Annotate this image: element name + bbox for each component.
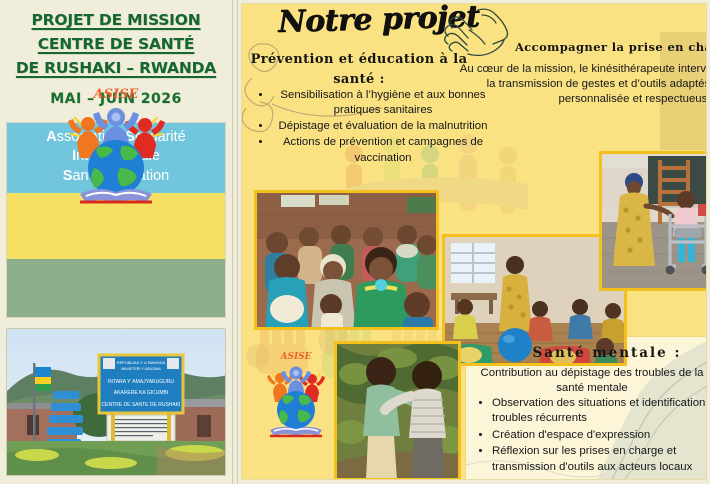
prevention-heading: Prévention et éducation à la santé : [248, 50, 470, 89]
poster: PROJET DE MISSION CENTRE DE SANTÉ DE RUS… [0, 0, 710, 484]
list-item: Réflexion sur les prises en charge et tr… [492, 444, 707, 474]
asise-logo-small: ASISE [260, 348, 332, 440]
assoc-line-1: Association Solidarité [46, 128, 185, 148]
list-item: Dépistage et évaluation de la malnutriti… [272, 119, 494, 134]
prevention-bullets: Sensibilisation à l’hygiène et aux bonne… [246, 88, 494, 167]
assoc-line-2: Internationale [72, 147, 160, 167]
svg-text:CENTRE DE SANTE DE RUSHAKI: CENTRE DE SANTE DE RUSHAKI [102, 402, 181, 408]
asise-acronym-small: ASISE [279, 352, 311, 362]
photo-child-with-walker [599, 151, 707, 291]
accompagner-heading: Accompagner la prise en charge fonctionn… [438, 40, 707, 54]
yellow-panel: Notre projet Prévention et éducation à l… [241, 3, 707, 480]
svg-text:REPUBLIKA Y U RWANDA: REPUBLIKA Y U RWANDA [117, 360, 166, 365]
title-block: PROJET DE MISSION CENTRE DE SANTÉ DE RUS… [0, 0, 232, 107]
svg-text:AKARERE KA GICUMBI: AKARERE KA GICUMBI [114, 390, 168, 396]
right-column: Notre projet Prévention et éducation à l… [238, 0, 710, 484]
left-column: PROJET DE MISSION CENTRE DE SANTÉ DE RUS… [0, 0, 232, 484]
sante-mentale-heading: Santé mentale : [492, 345, 707, 361]
svg-text:MINISITERI Y UBUZIMA: MINISITERI Y UBUZIMA [121, 367, 161, 371]
title-line-2: CENTRE DE SANTÉ [6, 32, 226, 56]
band-yellow [7, 193, 225, 259]
sante-mentale-bullets: Observation des situations et identifica… [474, 396, 707, 476]
svg-text:INTARA Y' AMAJYARUGURU: INTARA Y' AMAJYARUGURU [108, 379, 174, 385]
band-green [7, 259, 225, 318]
photo-centre-de-sante-rushaki: REPUBLIKA Y U RWANDA MINISITERI Y UBUZIM… [6, 328, 226, 476]
photo-mothers-and-babies [254, 190, 439, 330]
photo-two-boys-arms-around [334, 341, 461, 480]
association-name: Association Solidarité Internationale Sa… [6, 122, 226, 192]
list-item: Observation des situations et identifica… [492, 396, 707, 426]
title-line-1: PROJET DE MISSION [6, 8, 226, 32]
list-item: Actions de prévention et campagnes de va… [272, 135, 494, 165]
accompagner-body: Au cœur de la mission, le kinésithérapeu… [458, 62, 707, 107]
mission-dates: MAI – JUIN 2026 [6, 91, 226, 107]
title-line-3: DE RUSHAKI – RWANDA [6, 56, 226, 80]
assoc-line-3: Santé Éducation [63, 167, 169, 187]
list-item: Création d'espace d'expression [492, 428, 707, 443]
sante-mentale-intro: Contribution au dépistage des troubles d… [474, 366, 707, 396]
